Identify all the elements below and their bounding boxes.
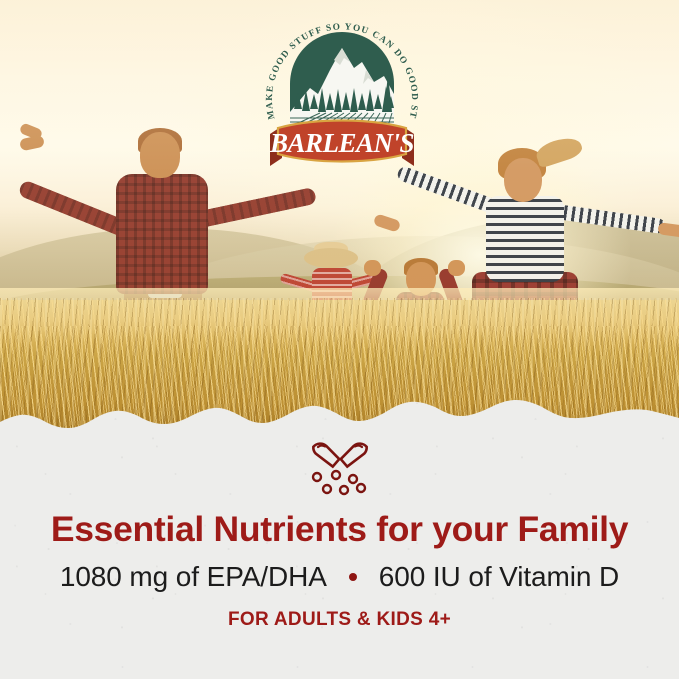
father-head <box>140 132 180 178</box>
promo-sub-left: 1080 mg of EPA/DHA <box>60 561 327 593</box>
promo-text-block: Essential Nutrients for your Family 1080… <box>0 430 679 679</box>
logo-svg: WE MAKE GOOD STUFF SO YOU CAN DO GOOD ST… <box>258 8 426 173</box>
promo-footnote: FOR ADULTS & KIDS 4+ <box>228 609 451 631</box>
bullet-separator-icon <box>349 573 357 581</box>
barleans-logo: WE MAKE GOOD STUFF SO YOU CAN DO GOOD ST… <box>258 8 426 173</box>
promo-subline: 1080 mg of EPA/DHA 600 IU of Vitamin D <box>60 561 619 593</box>
logo-wordmark: BARLEAN'S <box>269 128 414 158</box>
mother-arm-right <box>555 204 666 234</box>
logo-ribbon: BARLEAN'S <box>269 121 414 167</box>
mother-hand-left <box>373 213 401 232</box>
father-hand-right <box>19 135 45 152</box>
promo-headline: Essential Nutrients for your Family <box>51 511 628 548</box>
father-arm-left <box>17 179 131 238</box>
wheat-stalks-overlay <box>0 326 679 430</box>
product-promo-card: WE MAKE GOOD STUFF SO YOU CAN DO GOOD ST… <box>0 0 679 679</box>
child2-hand-left <box>364 260 381 276</box>
father-plaid-shirt <box>116 174 208 294</box>
mother-head <box>504 158 542 202</box>
child1-straw-hat <box>304 248 358 268</box>
logo-landscape <box>290 32 394 126</box>
mother-striped-top <box>486 196 564 282</box>
father-arm-right <box>194 187 317 229</box>
softgel-capsules-icon <box>304 438 376 501</box>
mother-hand-right <box>657 222 679 238</box>
mother-ponytail <box>534 133 585 168</box>
promo-sub-right: 600 IU of Vitamin D <box>379 561 619 593</box>
